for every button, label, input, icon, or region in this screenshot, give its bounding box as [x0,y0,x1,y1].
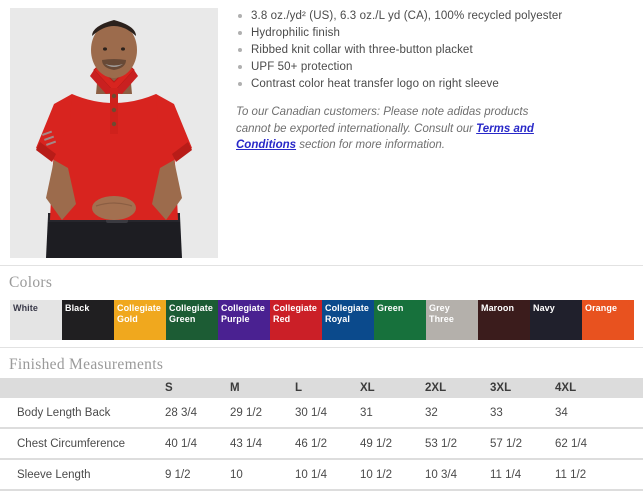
color-swatch-collegiate-purple[interactable]: Collegiate Purple [218,300,270,340]
column-header-s: S [165,382,230,394]
cell-4xl: 62 1/4 [555,438,623,450]
colors-section-divider [0,265,643,266]
colors-section-title: Colors [9,274,52,292]
disclaimer-text-after: section for more information. [296,139,445,151]
bullet-icon [238,65,242,69]
list-item: 3.8 oz./yd² (US), 6.3 oz./L yd (CA), 100… [236,8,636,25]
finished-measurements-table: S M L XL 2XL 3XL 4XL Body Length Back 28… [0,378,643,491]
column-header-3xl: 3XL [490,382,555,394]
column-header-4xl: 4XL [555,382,623,394]
cell-xl: 49 1/2 [360,438,425,450]
color-swatch-collegiate-gold[interactable]: Collegiate Gold [114,300,166,340]
spec-bullet-list: 3.8 oz./yd² (US), 6.3 oz./L yd (CA), 100… [236,8,636,93]
color-swatch-label: Green [377,303,425,314]
color-swatch-label: Collegiate Red [273,303,321,324]
column-header-l: L [295,382,360,394]
color-swatch-label: Maroon [481,303,529,314]
cell-3xl: 57 1/2 [490,438,555,450]
list-item: Hydrophilic finish [236,25,636,42]
spec-text: Hydrophilic finish [251,27,340,39]
table-row: Chest Circumference 40 1/4 43 1/4 46 1/2… [0,429,643,460]
column-header-m: M [230,382,295,394]
cell-m: 10 [230,469,295,481]
list-item: Ribbed knit collar with three-button pla… [236,42,636,59]
bullet-icon [238,82,242,86]
color-swatch-label: Black [65,303,113,314]
product-overview: 3.8 oz./yd² (US), 6.3 oz./L yd (CA), 100… [0,0,643,265]
cell-2xl: 53 1/2 [425,438,490,450]
cell-l: 30 1/4 [295,407,360,419]
cell-2xl: 10 3/4 [425,469,490,481]
cell-l: 10 1/4 [295,469,360,481]
color-swatch-navy[interactable]: Navy [530,300,582,340]
spec-text: Contrast color heat transfer logo on rig… [251,78,499,90]
cell-xl: 31 [360,407,425,419]
cell-2xl: 32 [425,407,490,419]
color-swatch-collegiate-red[interactable]: Collegiate Red [270,300,322,340]
cell-3xl: 33 [490,407,555,419]
color-swatch-black[interactable]: Black [62,300,114,340]
table-header-row: S M L XL 2XL 3XL 4XL [0,378,643,398]
canadian-customers-disclaimer: To our Canadian customers: Please note a… [236,104,551,154]
table-row: Sleeve Length 9 1/2 10 10 1/4 10 1/2 10 … [0,460,643,491]
column-header-2xl: 2XL [425,382,490,394]
product-photo-illustration [10,8,218,258]
product-image[interactable] [10,8,218,258]
color-swatch-maroon[interactable]: Maroon [478,300,530,340]
spec-text: 3.8 oz./yd² (US), 6.3 oz./L yd (CA), 100… [251,10,562,22]
color-swatch-orange[interactable]: Orange [582,300,634,340]
color-swatch-collegiate-royal[interactable]: Collegiate Royal [322,300,374,340]
color-swatch-label: Collegiate Purple [221,303,269,324]
color-swatch-label: Navy [533,303,581,314]
cell-3xl: 11 1/4 [490,469,555,481]
cell-m: 43 1/4 [230,438,295,450]
cell-l: 46 1/2 [295,438,360,450]
row-label: Body Length Back [0,407,165,419]
cell-s: 40 1/4 [165,438,230,450]
color-swatch-label: Collegiate Green [169,303,217,324]
bullet-icon [238,14,242,18]
measurements-section-divider [0,347,643,348]
measurements-section-title: Finished Measurements [9,356,163,374]
cell-m: 29 1/2 [230,407,295,419]
list-item: Contrast color heat transfer logo on rig… [236,76,636,93]
color-swatch-label: Orange [585,303,633,314]
bullet-icon [238,48,242,52]
column-header-xl: XL [360,382,425,394]
list-item: UPF 50+ protection [236,59,636,76]
product-detail-page: 3.8 oz./yd² (US), 6.3 oz./L yd (CA), 100… [0,0,643,492]
cell-s: 9 1/2 [165,469,230,481]
color-swatch-label: Grey Three [429,303,477,324]
color-swatch-label: White [13,303,61,314]
cell-4xl: 34 [555,407,623,419]
color-swatch-green[interactable]: Green [374,300,426,340]
row-label: Sleeve Length [0,469,165,481]
color-swatch-strip: White Black Collegiate Gold Collegiate G… [10,300,634,340]
product-specs: 3.8 oz./yd² (US), 6.3 oz./L yd (CA), 100… [236,8,636,165]
spec-text: UPF 50+ protection [251,61,352,73]
cell-xl: 10 1/2 [360,469,425,481]
bullet-icon [238,31,242,35]
row-label: Chest Circumference [0,438,165,450]
color-swatch-white[interactable]: White [10,300,62,340]
color-swatch-grey-three[interactable]: Grey Three [426,300,478,340]
color-swatch-collegiate-green[interactable]: Collegiate Green [166,300,218,340]
color-swatch-label: Collegiate Gold [117,303,165,324]
cell-4xl: 11 1/2 [555,469,623,481]
table-row: Body Length Back 28 3/4 29 1/2 30 1/4 31… [0,398,643,429]
cell-s: 28 3/4 [165,407,230,419]
spec-text: Ribbed knit collar with three-button pla… [251,44,473,56]
color-swatch-label: Collegiate Royal [325,303,373,324]
